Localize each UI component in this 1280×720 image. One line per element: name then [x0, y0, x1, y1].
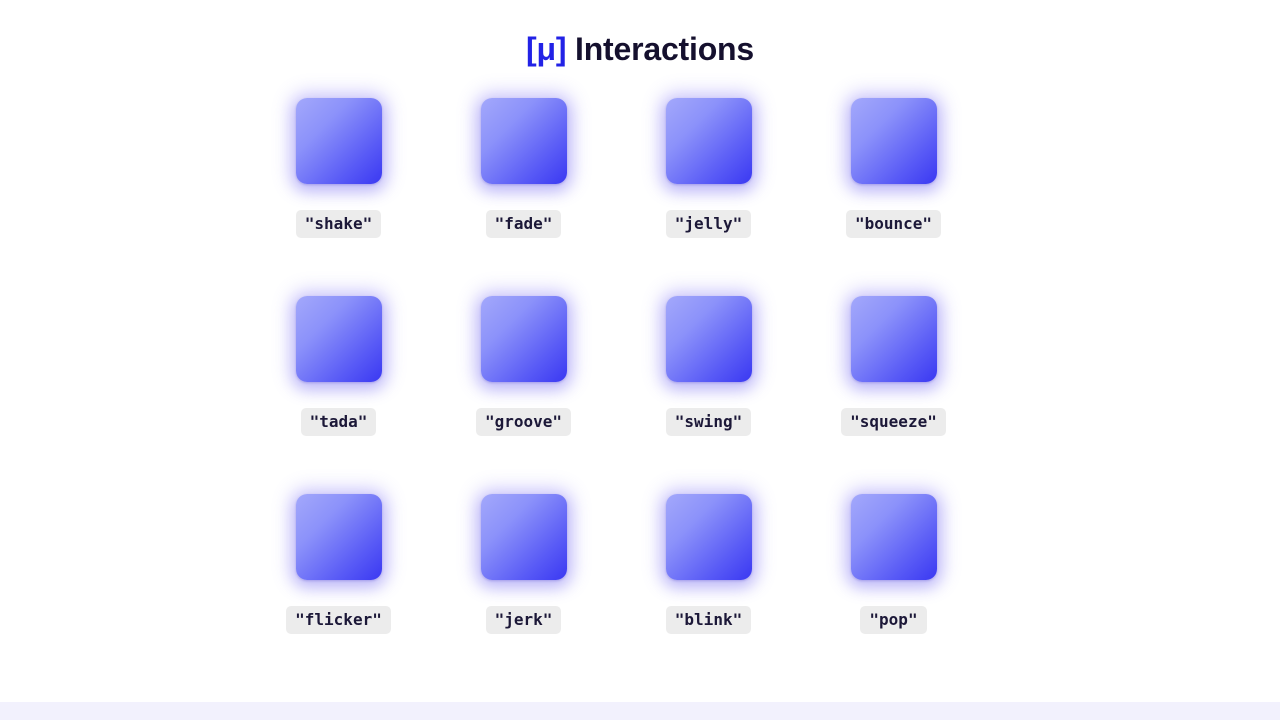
interaction-swatch-bounce[interactable] — [851, 98, 937, 184]
interaction-label-jelly: "jelly" — [666, 210, 751, 238]
page-root: [μ] Interactions "shake" "fade" "jelly" … — [0, 0, 1280, 720]
interaction-cell-flicker[interactable]: "flicker" — [246, 482, 431, 680]
interaction-swatch-pop[interactable] — [851, 494, 937, 580]
page-title-text: Interactions — [566, 31, 754, 68]
interaction-swatch-squeeze[interactable] — [851, 296, 937, 382]
interaction-cell-tada[interactable]: "tada" — [246, 284, 431, 482]
interaction-cell-jelly[interactable]: "jelly" — [616, 86, 801, 284]
interaction-cell-blink[interactable]: "blink" — [616, 482, 801, 680]
interaction-label-swing: "swing" — [666, 408, 751, 436]
interactions-grid: "shake" "fade" "jelly" "bounce" "tada" "… — [246, 86, 986, 680]
interaction-cell-groove[interactable]: "groove" — [431, 284, 616, 482]
page-title-mu-prefix: [μ] — [526, 31, 566, 68]
interaction-label-groove: "groove" — [476, 408, 571, 436]
interaction-cell-fade[interactable]: "fade" — [431, 86, 616, 284]
interaction-cell-jerk[interactable]: "jerk" — [431, 482, 616, 680]
interaction-label-squeeze: "squeeze" — [841, 408, 946, 436]
bottom-band — [0, 702, 1280, 720]
interaction-label-flicker: "flicker" — [286, 606, 391, 634]
interaction-cell-shake[interactable]: "shake" — [246, 86, 431, 284]
interaction-label-jerk: "jerk" — [486, 606, 562, 634]
interaction-cell-squeeze[interactable]: "squeeze" — [801, 284, 986, 482]
interaction-swatch-flicker[interactable] — [296, 494, 382, 580]
page-title: [μ] Interactions — [0, 21, 1280, 77]
interaction-swatch-blink[interactable] — [666, 494, 752, 580]
interaction-label-tada: "tada" — [301, 408, 377, 436]
interaction-swatch-groove[interactable] — [481, 296, 567, 382]
interaction-label-bounce: "bounce" — [846, 210, 941, 238]
interaction-swatch-swing[interactable] — [666, 296, 752, 382]
interaction-swatch-jelly[interactable] — [666, 98, 752, 184]
interaction-label-pop: "pop" — [860, 606, 926, 634]
interaction-label-fade: "fade" — [486, 210, 562, 238]
interaction-cell-bounce[interactable]: "bounce" — [801, 86, 986, 284]
interaction-swatch-shake[interactable] — [296, 98, 382, 184]
interaction-label-blink: "blink" — [666, 606, 751, 634]
interaction-swatch-fade[interactable] — [481, 98, 567, 184]
interaction-label-shake: "shake" — [296, 210, 381, 238]
interaction-cell-swing[interactable]: "swing" — [616, 284, 801, 482]
interaction-cell-pop[interactable]: "pop" — [801, 482, 986, 680]
interaction-swatch-tada[interactable] — [296, 296, 382, 382]
interaction-swatch-jerk[interactable] — [481, 494, 567, 580]
